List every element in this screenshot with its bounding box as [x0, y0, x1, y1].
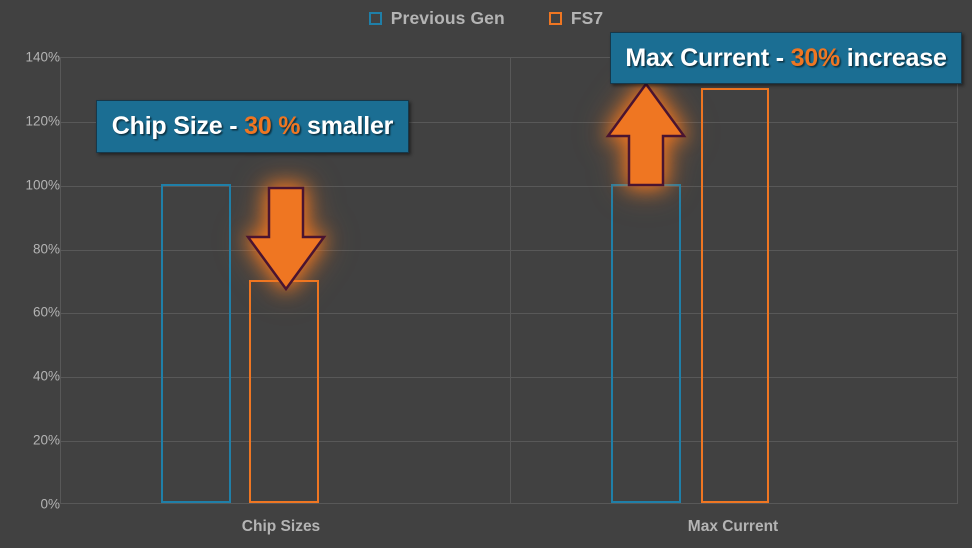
callout-chip-size[interactable]: Chip Size - 30 % smaller [96, 100, 409, 153]
y-tick-label-120: 120% [0, 113, 60, 128]
up-arrow-icon [604, 81, 688, 187]
callout-max-current-highlight: 30% [791, 44, 840, 72]
bar-previous-gen-max-current[interactable] [611, 184, 681, 503]
legend-swatch-fs7-icon [549, 12, 562, 25]
callout-max-current[interactable]: Max Current - 30% increase [610, 32, 962, 84]
legend-item-previous-gen[interactable]: Previous Gen [369, 8, 505, 29]
x-category-label-chip-sizes: Chip Sizes [242, 518, 320, 536]
down-arrow-icon [244, 186, 328, 292]
callout-chip-size-highlight: 30 % [244, 112, 300, 140]
callout-chip-size-text: Chip Size - 30 % smaller [112, 112, 393, 141]
callout-max-current-suffix: increase [840, 44, 947, 72]
category-divider [510, 58, 511, 503]
legend-item-fs7[interactable]: FS7 [549, 8, 603, 29]
y-tick-label-0: 0% [0, 497, 60, 512]
bar-fs7-chip-sizes[interactable] [249, 280, 319, 504]
bar-fs7-max-current[interactable] [701, 88, 769, 503]
callout-chip-size-suffix: smaller [300, 112, 393, 140]
y-tick-label-40: 40% [0, 369, 60, 384]
legend-label-fs7: FS7 [571, 8, 603, 29]
y-tick-label-100: 100% [0, 177, 60, 192]
callout-chip-size-prefix: Chip Size - [112, 112, 244, 140]
y-tick-label-60: 60% [0, 305, 60, 320]
y-tick-label-20: 20% [0, 433, 60, 448]
y-tick-label-80: 80% [0, 241, 60, 256]
callout-max-current-prefix: Max Current - [625, 44, 790, 72]
y-tick-label-140: 140% [0, 50, 60, 65]
x-category-label-max-current: Max Current [688, 518, 778, 536]
callout-max-current-text: Max Current - 30% increase [625, 44, 946, 73]
chart-root: Previous Gen FS7 140% 120% 100% 80% 60% … [0, 0, 972, 548]
legend-swatch-previous-gen-icon [369, 12, 382, 25]
legend-label-previous-gen: Previous Gen [391, 8, 505, 29]
bar-previous-gen-chip-sizes[interactable] [161, 184, 231, 503]
chart-legend: Previous Gen FS7 [0, 2, 972, 34]
